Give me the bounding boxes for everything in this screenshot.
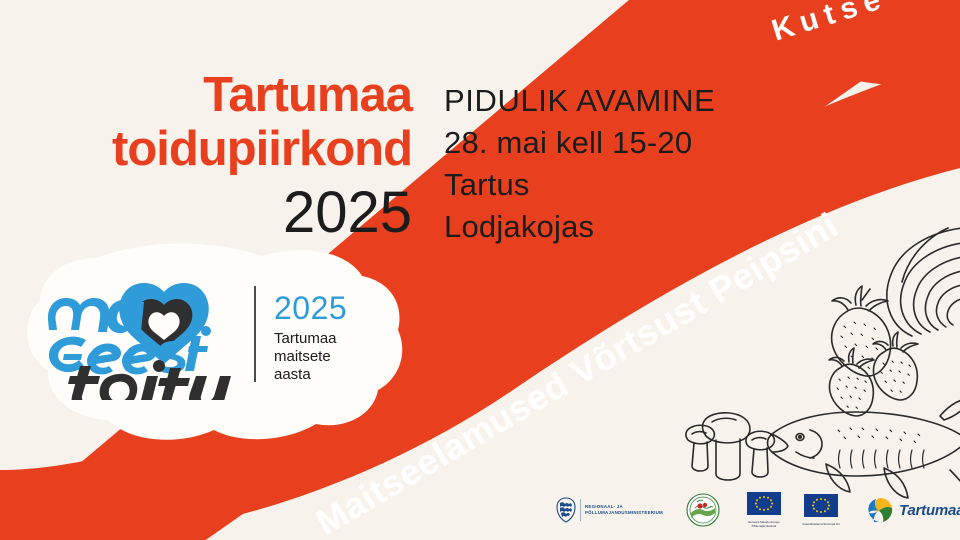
logo-subtitle-line-1: Tartumaa bbox=[274, 330, 337, 348]
headline-block: Tartumaa toidupiirkond 2025 bbox=[0, 68, 412, 250]
logo-divider bbox=[254, 286, 256, 382]
estonia-coat-of-arms-icon bbox=[556, 497, 576, 523]
eu-caption-1: Euroopa Maaelu Arengu Põllumajandusfond bbox=[741, 521, 787, 528]
strawberry-large-illustration bbox=[832, 286, 891, 376]
leader-emblem-icon bbox=[686, 493, 720, 527]
event-title: PIDULIK AVAMINE bbox=[444, 80, 774, 122]
headline-line-2: toidupiirkond bbox=[0, 122, 412, 176]
strawberry-medium-illustration bbox=[873, 332, 918, 400]
partner-tartumaa-arendusselts: Tartumaa Arendusse bbox=[867, 497, 960, 523]
partner-eu-1: Euroopa Maaelu Arengu Põllumajandusfond bbox=[741, 492, 787, 528]
partner-logo-strip: REGIONAAL- JA PÕLLUMAJANDUSMINISTEERIUM bbox=[556, 488, 960, 532]
eu-flag-icon bbox=[804, 494, 838, 517]
partner-ministry: REGIONAAL- JA PÕLLUMAJANDUSMINISTEERIUM bbox=[556, 497, 663, 523]
eu-flag-icon bbox=[747, 492, 781, 515]
ma-eesti-toitu-lockup bbox=[46, 276, 256, 400]
event-venue: Lodjakojas bbox=[444, 206, 774, 248]
onion-slice-illustration bbox=[887, 228, 960, 336]
strawberry-small-illustration bbox=[829, 348, 874, 416]
logo-subtitle-line-2: maitsete aasta bbox=[274, 348, 346, 384]
partner-leader-seal bbox=[686, 493, 720, 527]
ministry-divider bbox=[580, 499, 581, 521]
swirl-leaf-icon bbox=[867, 497, 893, 523]
tartumaa-arendusselts-label: Tartumaa Arendusse bbox=[899, 502, 960, 519]
event-datetime: 28. mai kell 15-20 bbox=[444, 122, 774, 164]
event-details-block: PIDULIK AVAMINE 28. mai kell 15-20 Tartu… bbox=[444, 80, 774, 248]
eu-caption-2: Kaasrahastanud Euroopa Liit bbox=[798, 523, 844, 527]
ma-eesti-toitu-logo: 2025 Tartumaa maitsete aasta bbox=[46, 276, 346, 400]
headline-line-1: Tartumaa bbox=[0, 68, 412, 122]
poster-canvas: Tartumaa toidupiirkond 2025 PIDULIK AVAM… bbox=[0, 0, 960, 540]
headline-year: 2025 bbox=[0, 176, 412, 250]
mushrooms-illustration bbox=[686, 413, 774, 480]
event-city: Tartus bbox=[444, 164, 774, 206]
ministry-label: REGIONAAL- JA PÕLLUMAJANDUSMINISTEERIUM bbox=[585, 504, 663, 515]
logo-year: 2025 bbox=[274, 292, 347, 324]
partner-eu-2: Kaasrahastanud Euroopa Liit bbox=[798, 494, 844, 527]
